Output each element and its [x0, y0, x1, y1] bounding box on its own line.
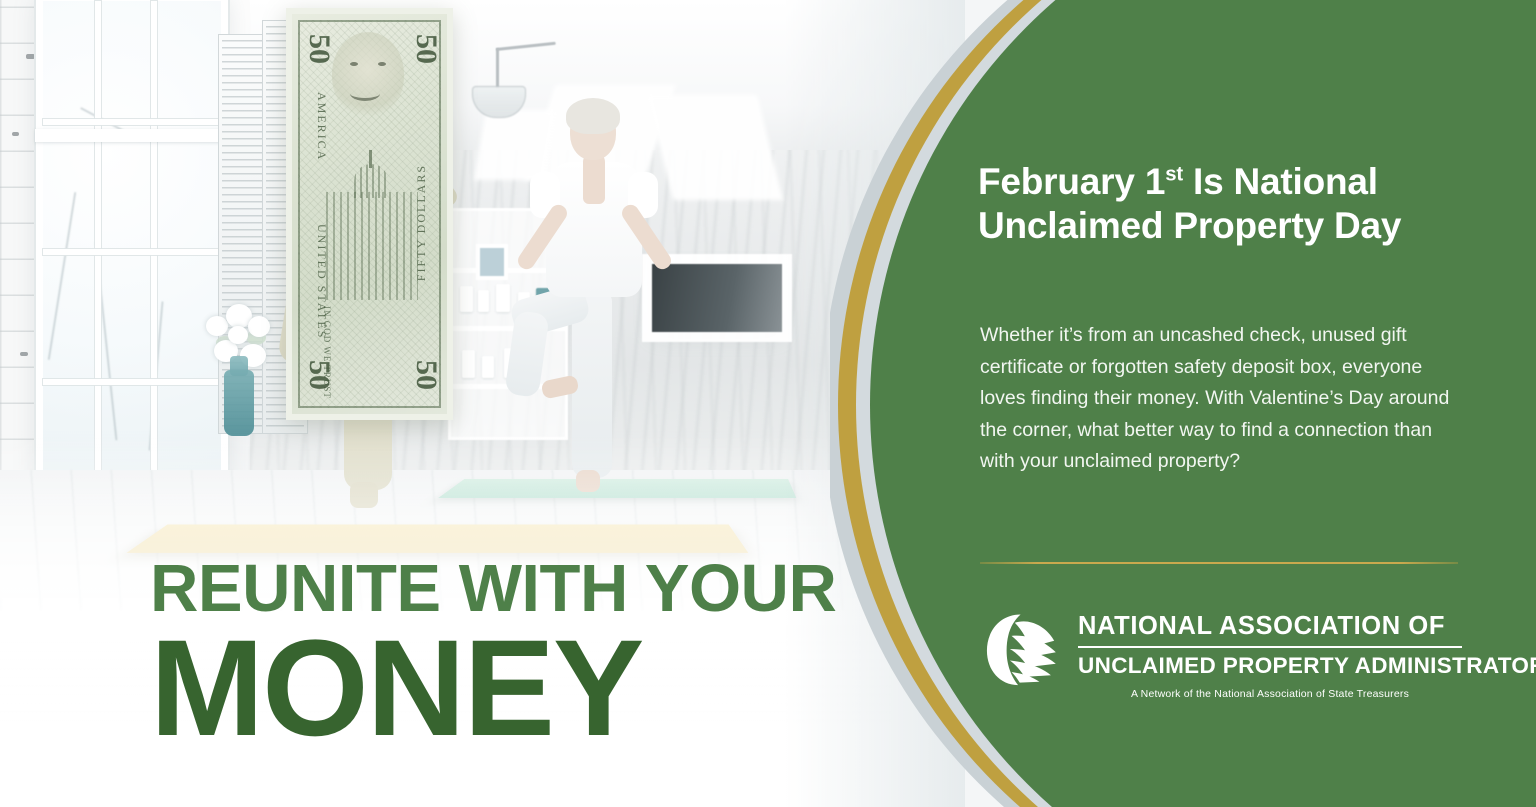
- picture-frame: [480, 248, 504, 276]
- wall-mounted-screen: [652, 264, 782, 332]
- tagline-lockup: REUNITE WITH YOUR MONEY: [150, 556, 850, 752]
- logo-line-1: NATIONAL ASSOCIATION OF: [1078, 612, 1462, 641]
- jar: [482, 356, 494, 378]
- eye: [350, 62, 358, 66]
- hair: [566, 98, 620, 134]
- bill-text-motto: IN GOD WE TRUST: [322, 306, 332, 399]
- bill-text-fifty-dollars: FIFTY DOLLARS: [414, 164, 429, 281]
- naupa-logo-wordmark: NATIONAL ASSOCIATION OF UNCLAIMED PROPER…: [1078, 612, 1462, 700]
- logo-tagline: A Network of the National Association of…: [1078, 688, 1462, 700]
- logo-line-2: UNCLAIMED PROPERTY ADMINISTRATORS: [1078, 653, 1462, 679]
- window-sash-rail: [35, 129, 229, 142]
- jar: [496, 284, 510, 312]
- naupa-logo-lockup: NATIONAL ASSOCIATION OF UNCLAIMED PROPER…: [982, 608, 1462, 708]
- bill-denomination: 50: [409, 34, 443, 64]
- window-mullion: [43, 379, 221, 385]
- window-mullion: [43, 249, 221, 255]
- logo-divider-line: [1078, 646, 1462, 648]
- green-info-panel: February 1st Is National Unclaimed Prope…: [830, 0, 1536, 807]
- panel-body-copy: Whether it’s from an uncashed check, unu…: [980, 320, 1458, 478]
- gold-divider-rule: [980, 562, 1458, 564]
- naupa-fan-crescent-icon: [982, 608, 1064, 690]
- headline-part-1: February 1: [978, 161, 1165, 202]
- headline-part-2: Is National: [1183, 161, 1378, 202]
- flower: [228, 326, 248, 344]
- smile: [350, 86, 380, 101]
- portrait-face-blend: [332, 32, 404, 116]
- tagline-line-2: MONEY: [150, 626, 850, 752]
- promotional-banner: 50 50 50 50 AMERICA UNITED STATES FIFTY …: [0, 0, 1536, 807]
- eye: [378, 62, 386, 66]
- capitol-building-engraving: [326, 192, 418, 300]
- headline-ordinal-suffix: st: [1165, 164, 1183, 186]
- ceiling-panel: [474, 110, 556, 180]
- brick-speck: [12, 132, 19, 136]
- brick-speck: [26, 54, 35, 59]
- panel-content: February 1st Is National Unclaimed Prope…: [978, 0, 1488, 807]
- brick-speck: [20, 352, 28, 356]
- fifty-dollar-bill-overlay: 50 50 50 50 AMERICA UNITED STATES FIFTY …: [286, 8, 453, 420]
- bill-denomination: 50: [302, 34, 336, 64]
- flower: [206, 316, 228, 336]
- window-mullion: [43, 119, 221, 125]
- pendant-lamp-rod: [496, 48, 499, 88]
- bill-text-america: AMERICA: [314, 92, 329, 161]
- jar: [462, 350, 475, 378]
- flower: [248, 316, 270, 337]
- teal-vase: [224, 370, 254, 436]
- jar: [478, 290, 489, 312]
- bill-denomination: 50: [409, 360, 443, 390]
- jar: [460, 286, 473, 312]
- panel-headline: February 1st Is National Unclaimed Prope…: [978, 160, 1478, 247]
- headline-line-2: Unclaimed Property Day: [978, 205, 1401, 246]
